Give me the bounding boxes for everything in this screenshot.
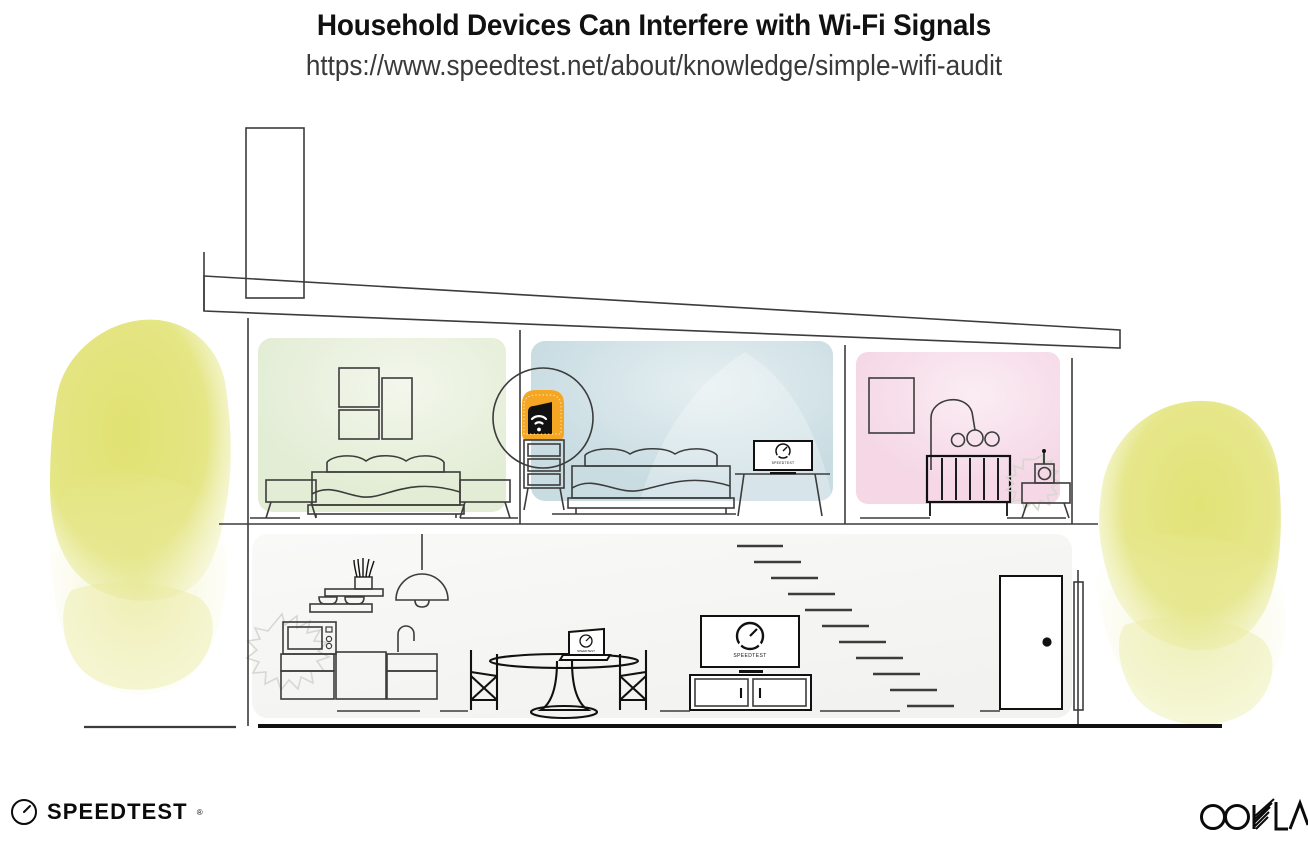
speedometer-icon [10,798,38,826]
wifi-router [522,390,564,440]
desktop-monitor: SPEEDTEST [754,441,812,474]
front-door [1000,576,1062,709]
roof [204,252,1120,348]
room-fill-bedroom-middle [531,341,833,501]
television: SPEEDTEST [701,616,799,673]
speedtest-logo: SPEEDTEST ® [10,798,203,826]
infographic-canvas: Household Devices Can Interfere with Wi-… [0,0,1308,861]
room-fill-ground-floor [252,534,1072,718]
side-window [1074,570,1083,725]
svg-text:SPEEDTEST: SPEEDTEST [733,653,766,659]
chimney [246,128,304,298]
speedtest-wordmark: SPEEDTEST [47,799,188,825]
ookla-wordmark-icon [1196,795,1308,835]
ground-line [84,726,1222,727]
ookla-logo [1196,795,1308,840]
room-fill-nursery-right [856,352,1060,504]
tv-console [690,675,811,710]
speedtest-trademark: ® [197,808,203,817]
svg-text:SPEEDTEST: SPEEDTEST [772,461,795,465]
house-illustration: .o { fill:none; stroke:#3c3c3c; stroke-w… [0,0,1308,861]
svg-text:SPEEDTEST: SPEEDTEST [577,649,595,653]
